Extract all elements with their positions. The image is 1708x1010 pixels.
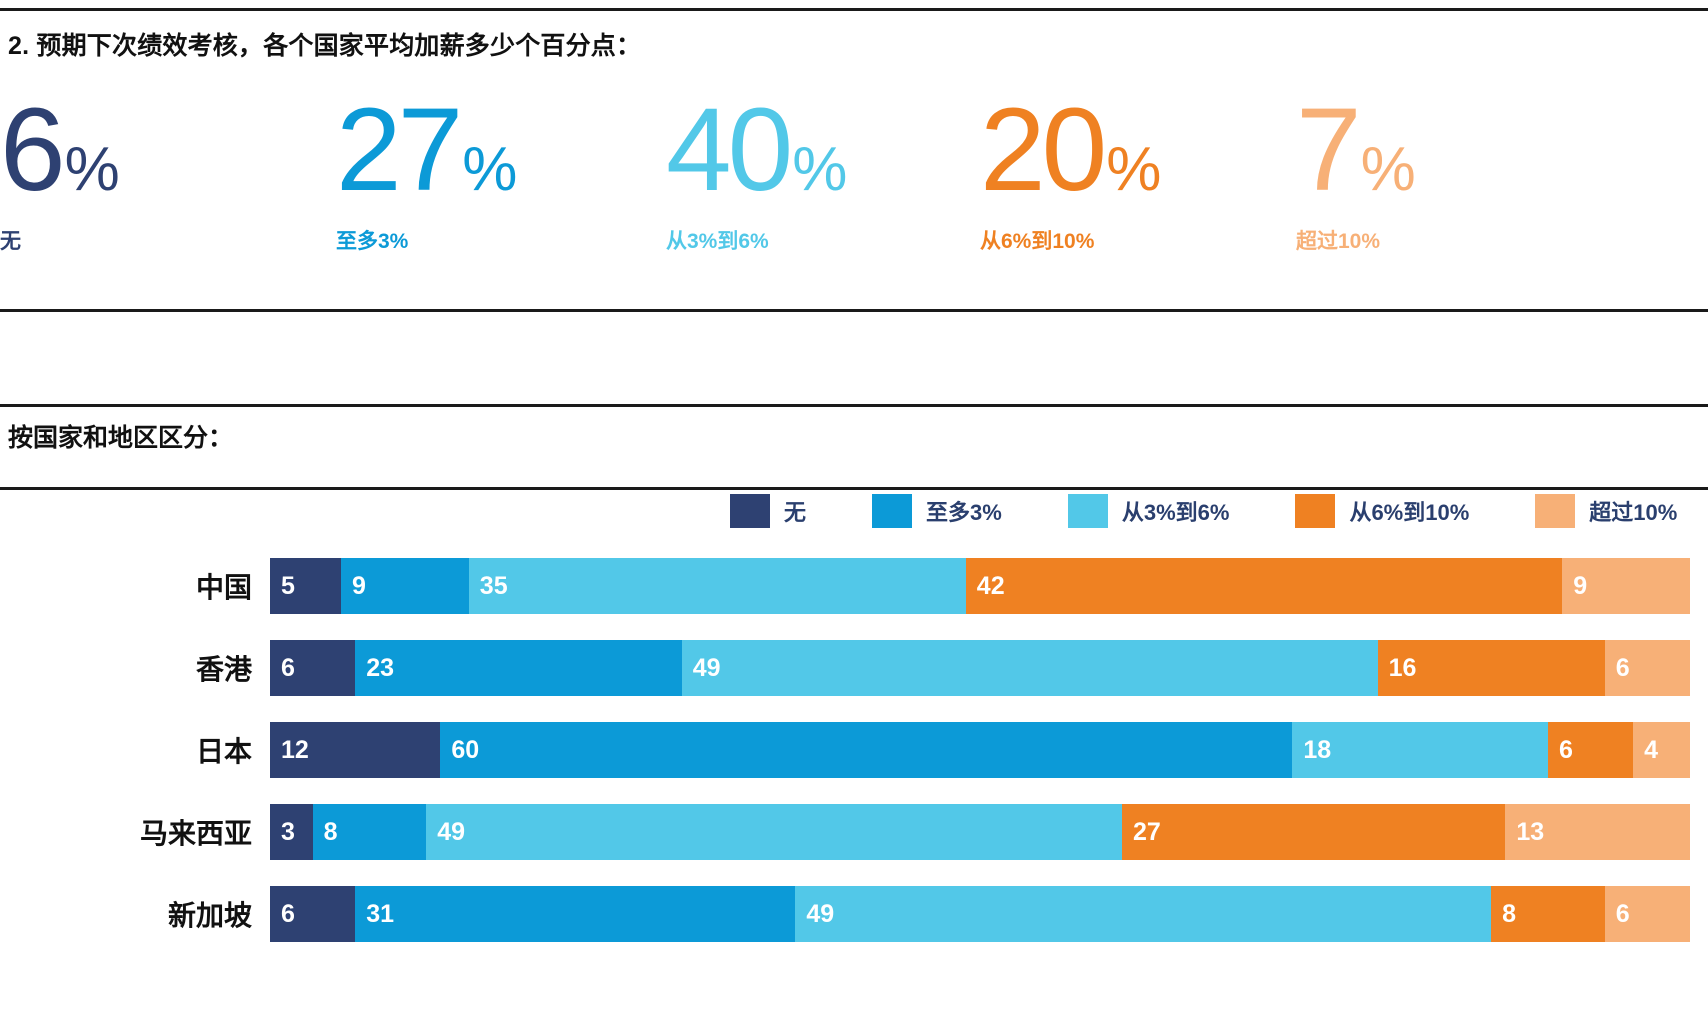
summary-stat-3: 40%从3%到6% xyxy=(666,96,846,255)
summary-stat-caption: 无 xyxy=(0,225,119,255)
summary-stat-5: 7%超过10% xyxy=(1296,96,1415,255)
bar-track: 5935429 xyxy=(270,558,1690,614)
legend-item-3[interactable]: 从3%到6% xyxy=(1068,494,1230,528)
summary-stat-number: 20 xyxy=(980,96,1103,205)
summary-stat-percent-symbol: % xyxy=(1106,141,1160,198)
bar-segment-value: 8 xyxy=(1491,902,1516,927)
bar-segment-value: 6 xyxy=(270,656,295,681)
legend-item-5[interactable]: 超过10% xyxy=(1535,494,1677,528)
legend-item-label: 从6%到10% xyxy=(1349,495,1469,527)
bar-segment-value: 60 xyxy=(440,738,479,763)
bar-segment-value: 13 xyxy=(1505,820,1544,845)
bar-segment-value: 42 xyxy=(966,574,1005,599)
summary-stat-caption: 从6%到10% xyxy=(980,225,1160,255)
bar-segment[interactable]: 6 xyxy=(1605,640,1690,696)
summary-stat-value-wrap: 40% xyxy=(666,96,846,205)
bar-segment[interactable]: 35 xyxy=(469,558,966,614)
legend-item-label: 超过10% xyxy=(1589,495,1677,527)
legend-swatch-icon xyxy=(1295,494,1335,528)
bar-segment-value: 4 xyxy=(1633,738,1658,763)
summary-stat-4: 20%从6%到10% xyxy=(980,96,1160,255)
chart-legend: 无至多3%从3%到6%从6%到10%超过10% xyxy=(730,494,1677,528)
bar-segment[interactable]: 8 xyxy=(1491,886,1605,942)
summary-stat-percent-symbol: % xyxy=(65,141,119,198)
bar-segment-value: 16 xyxy=(1378,656,1417,681)
legend-item-1[interactable]: 无 xyxy=(730,494,806,528)
bar-segment[interactable]: 49 xyxy=(426,804,1122,860)
summary-stat-value-wrap: 20% xyxy=(980,96,1160,205)
bar-segment-value: 27 xyxy=(1122,820,1161,845)
bar-segment-value: 35 xyxy=(469,574,508,599)
bar-segment[interactable]: 42 xyxy=(966,558,1562,614)
bar-row-label: 日本 xyxy=(0,730,270,770)
bar-segment[interactable]: 49 xyxy=(795,886,1491,942)
bar-segment-value: 31 xyxy=(355,902,394,927)
bar-segment[interactable]: 18 xyxy=(1292,722,1548,778)
summary-stat-caption: 至多3% xyxy=(336,225,516,255)
bar-segment-value: 6 xyxy=(1548,738,1573,763)
summary-stat-caption: 从3%到6% xyxy=(666,225,846,255)
bar-segment-value: 6 xyxy=(270,902,295,927)
bar-track: 62349166 xyxy=(270,640,1690,696)
bar-segment-value: 5 xyxy=(270,574,295,599)
bar-segment[interactable]: 27 xyxy=(1122,804,1505,860)
summary-stat-number: 7 xyxy=(1296,96,1358,205)
bar-row-label: 新加坡 xyxy=(0,894,270,934)
bar-segment[interactable]: 3 xyxy=(270,804,313,860)
section-heading: 按国家和地区区分： xyxy=(8,418,233,454)
bar-segment[interactable]: 4 xyxy=(1633,722,1690,778)
bar-segment-value: 49 xyxy=(426,820,465,845)
bar-segment[interactable]: 9 xyxy=(1562,558,1690,614)
legend-item-label: 至多3% xyxy=(926,495,1002,527)
bar-segment-value: 49 xyxy=(682,656,721,681)
bar-track: 38492713 xyxy=(270,804,1690,860)
legend-swatch-icon xyxy=(1068,494,1108,528)
bar-segment[interactable]: 60 xyxy=(440,722,1292,778)
bar-segment-value: 6 xyxy=(1605,902,1630,927)
bar-track: 6314986 xyxy=(270,886,1690,942)
infographic-page: 2. 预期下次绩效考核，各个国家平均加薪多少个百分点： 6%无27%至多3%40… xyxy=(0,0,1708,1010)
summary-stat-caption: 超过10% xyxy=(1296,225,1415,255)
bar-segment-value: 18 xyxy=(1292,738,1331,763)
divider-above-section xyxy=(0,404,1708,407)
bar-segment[interactable]: 6 xyxy=(1548,722,1633,778)
bar-row: 日本12601864 xyxy=(0,722,1708,778)
summary-stat-value-wrap: 27% xyxy=(336,96,516,205)
divider-under-stats xyxy=(0,309,1708,312)
bar-row-label: 中国 xyxy=(0,566,270,606)
bar-track: 12601864 xyxy=(270,722,1690,778)
summary-stat-percent-symbol: % xyxy=(1361,141,1415,198)
bar-segment-value: 3 xyxy=(270,820,295,845)
bar-segment[interactable]: 8 xyxy=(313,804,427,860)
summary-stat-number: 27 xyxy=(336,96,459,205)
bar-segment[interactable]: 31 xyxy=(355,886,795,942)
bar-segment[interactable]: 6 xyxy=(270,640,355,696)
legend-item-2[interactable]: 至多3% xyxy=(872,494,1002,528)
stacked-bar-chart: 中国5935429香港62349166日本12601864马来西亚3849271… xyxy=(0,558,1708,942)
bar-segment-value: 9 xyxy=(1562,574,1587,599)
bar-segment-value: 12 xyxy=(270,738,309,763)
bar-row: 中国5935429 xyxy=(0,558,1708,614)
bar-segment-value: 23 xyxy=(355,656,394,681)
summary-stat-percent-symbol: % xyxy=(462,141,516,198)
summary-stat-number: 6 xyxy=(0,96,62,205)
bar-segment[interactable]: 16 xyxy=(1378,640,1605,696)
question-heading: 2. 预期下次绩效考核，各个国家平均加薪多少个百分点： xyxy=(8,26,641,62)
bar-segment[interactable]: 13 xyxy=(1505,804,1690,860)
bar-row: 香港62349166 xyxy=(0,640,1708,696)
bar-segment-value: 9 xyxy=(341,574,366,599)
legend-swatch-icon xyxy=(1535,494,1575,528)
legend-item-label: 无 xyxy=(784,495,806,527)
summary-stats-row: 6%无27%至多3%40%从3%到6%20%从6%到10%7%超过10% xyxy=(0,96,1708,291)
bar-segment-value: 49 xyxy=(795,902,834,927)
bar-segment[interactable]: 5 xyxy=(270,558,341,614)
bar-segment-value: 8 xyxy=(313,820,338,845)
bar-row: 马来西亚38492713 xyxy=(0,804,1708,860)
bar-segment[interactable]: 49 xyxy=(682,640,1378,696)
summary-stat-2: 27%至多3% xyxy=(336,96,516,255)
bar-segment[interactable]: 6 xyxy=(270,886,355,942)
bar-row: 新加坡6314986 xyxy=(0,886,1708,942)
divider-under-section xyxy=(0,487,1708,490)
divider-top xyxy=(0,8,1708,11)
legend-item-label: 从3%到6% xyxy=(1122,495,1230,527)
bar-segment-value: 6 xyxy=(1605,656,1630,681)
bar-segment[interactable]: 12 xyxy=(270,722,440,778)
summary-stat-percent-symbol: % xyxy=(792,141,846,198)
bar-row-label: 马来西亚 xyxy=(0,812,270,852)
legend-item-4[interactable]: 从6%到10% xyxy=(1295,494,1469,528)
summary-stat-value-wrap: 7% xyxy=(1296,96,1415,205)
bar-segment[interactable]: 23 xyxy=(355,640,682,696)
legend-swatch-icon xyxy=(872,494,912,528)
bar-segment[interactable]: 6 xyxy=(1605,886,1690,942)
legend-swatch-icon xyxy=(730,494,770,528)
bar-row-label: 香港 xyxy=(0,648,270,688)
bar-segment[interactable]: 9 xyxy=(341,558,469,614)
summary-stat-number: 40 xyxy=(666,96,789,205)
summary-stat-value-wrap: 6% xyxy=(0,96,119,205)
summary-stat-1: 6%无 xyxy=(0,96,119,255)
